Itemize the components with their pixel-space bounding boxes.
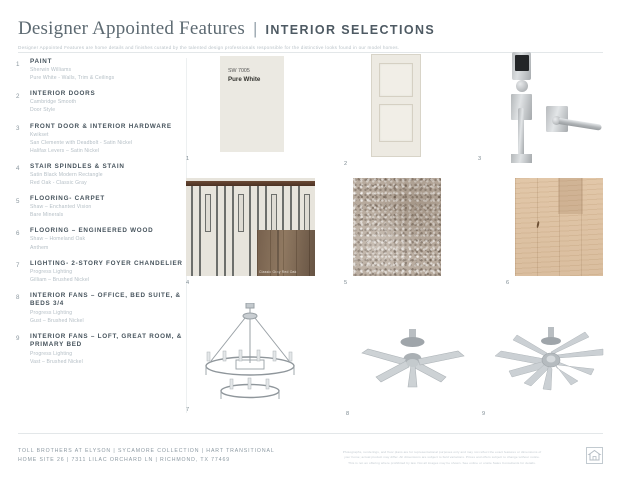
grid-cell-chandelier: 7 [191, 303, 309, 407]
legal-disclaimer: Photographs, renderings, and floor plans… [313, 450, 571, 466]
ceiling-fan-multi-blade-image [491, 325, 616, 410]
spec-number: 5 [16, 195, 30, 220]
footer-address-block: TOLL BROTHERS AT ELYSON | SYCAMORE COLLE… [18, 447, 275, 466]
equal-housing-opportunity-icon [586, 447, 603, 464]
grid-cell-carpet: 5 [353, 178, 441, 276]
spec-detail: Door Style [30, 107, 184, 115]
spec-number: 2 [16, 90, 30, 115]
spec-detail: Shaw – Homeland Oak [30, 236, 184, 244]
grid-cell-door-hardware: 3 [496, 50, 608, 163]
spec-detail: Progress Lighting [30, 310, 184, 318]
list-item: 8 INTERIOR FANS – OFFICE, BED SUITE, & B… [16, 292, 184, 325]
wood-stain-sample: Classic Gray Red Oak [257, 230, 315, 276]
cell-number: 9 [482, 411, 485, 417]
cell-number: 6 [506, 280, 509, 286]
door-panel-top [379, 63, 413, 97]
paint-code: SW 7005 [228, 67, 260, 75]
spec-number: 8 [16, 292, 30, 325]
footer-divider-rule [18, 433, 603, 434]
stair-spindles-image: Classic Gray Red Oak [186, 178, 315, 276]
cell-number: 4 [186, 280, 189, 286]
lock-cylinder-icon [516, 80, 528, 92]
spec-detail: Anthem [30, 245, 184, 253]
spec-detail: Gilliam – Brushed Nickel [30, 277, 184, 285]
page-subtitle-heading: INTERIOR SELECTIONS [265, 23, 435, 37]
chandelier-image [191, 303, 309, 407]
spec-title: STAIR SPINDLES & STAIN [30, 163, 184, 172]
footer-community-line: TOLL BROTHERS AT ELYSON | SYCAMORE COLLE… [18, 447, 275, 457]
selection-image-grid: SW 7005 Pure White 1 2 3 [186, 50, 605, 428]
title-row: Designer Appointed Features | INTERIOR S… [18, 18, 603, 40]
door-hardware-image [496, 50, 606, 162]
spec-detail: Sherwin Williams [30, 67, 184, 75]
door-panel-bottom [379, 104, 413, 142]
cell-number: 7 [186, 407, 189, 413]
spec-title: INTERIOR FANS – LOFT, GREAT ROOM, & PRIM… [30, 333, 184, 350]
spec-number: 3 [16, 123, 30, 156]
list-item: 4 STAIR SPINDLES & STAIN Satin Black Mod… [16, 163, 184, 188]
spec-detail: Bare Minerals [30, 212, 184, 220]
spec-number: 1 [16, 58, 30, 83]
specification-list: 1 PAINT Sherwin Williams Pure White - Wa… [16, 58, 184, 374]
spec-title: LIGHTING- 2-STORY FOYER CHANDELIER [30, 260, 184, 269]
fan-multi-blade-svg [491, 325, 616, 405]
list-item: 9 INTERIOR FANS – LOFT, GREAT ROOM, & PR… [16, 333, 184, 366]
spec-title: FRONT DOOR & INTERIOR HARDWARE [30, 123, 184, 132]
spec-number: 9 [16, 333, 30, 366]
spec-title: INTERIOR FANS – OFFICE, BED SUITE, & BED… [30, 292, 184, 309]
spec-title: FLOORING- CARPET [30, 195, 184, 204]
spec-detail: Satin Black Modern Rectangle [30, 172, 184, 180]
list-item: 6 FLOORING – ENGINEERED WOOD Shaw – Home… [16, 227, 184, 252]
disclaimer-line: This is not an offering where prohibited… [313, 461, 571, 466]
cell-number: 2 [344, 161, 347, 167]
carpet-swatch-image [353, 178, 441, 276]
spec-detail: Progress Lighting [30, 269, 184, 277]
ceiling-fan-five-blade-image [354, 325, 474, 410]
spec-number: 7 [16, 260, 30, 285]
page-title: Designer Appointed Features [18, 18, 245, 40]
title-divider: | [253, 19, 257, 39]
keypad-deadbolt-icon [512, 52, 531, 80]
spec-detail: Cambridge Smooth [30, 99, 184, 107]
grid-cell-stair-spindles: Classic Gray Red Oak 4 [186, 178, 315, 276]
cell-number: 1 [186, 156, 189, 162]
cell-number: 8 [346, 411, 349, 417]
engineered-wood-swatch-image [515, 178, 603, 276]
spec-detail: Pure White - Walls, Trim & Ceilings [30, 75, 184, 83]
fan-five-blade-svg [354, 325, 474, 405]
spec-detail: Progress Lighting [30, 351, 184, 359]
spec-title: FLOORING – ENGINEERED WOOD [30, 227, 184, 236]
grid-cell-interior-door: 2 [371, 54, 421, 157]
wood-stain-caption: Classic Gray Red Oak [259, 270, 297, 274]
handleset-grip [518, 108, 524, 160]
spec-number: 6 [16, 227, 30, 252]
spec-detail: San Clemente with Deadbolt - Satin Nicke… [30, 140, 184, 148]
list-item: 5 FLOORING- CARPET Shaw – Enchanted Visi… [16, 195, 184, 220]
handleset-base [511, 154, 532, 163]
list-item: 1 PAINT Sherwin Williams Pure White - Wa… [16, 58, 184, 83]
spec-detail: Gust – Brushed Nickel [30, 318, 184, 326]
grid-cell-fan-multi-blade: 9 [491, 325, 616, 405]
spec-number: 4 [16, 163, 30, 188]
spec-detail: Halifax Levers – Satin Nickel [30, 148, 184, 156]
spec-detail: Kwikset [30, 132, 184, 140]
paint-name: Pure White [228, 75, 260, 85]
chandelier-svg [191, 303, 309, 407]
cell-number: 3 [478, 156, 481, 162]
footer-site-line: HOME SITE 26 | 7311 LILAC ORCHARD LN | R… [18, 456, 275, 466]
paint-swatch: SW 7005 Pure White [220, 56, 284, 152]
list-item: 3 FRONT DOOR & INTERIOR HARDWARE Kwikset… [16, 123, 184, 156]
grid-cell-fan-five-blade: 8 [354, 325, 474, 405]
interior-door-image [371, 54, 421, 157]
spec-detail: Red Oak - Classic Gray [30, 180, 184, 188]
grid-cell-engineered-wood: 6 [515, 178, 603, 276]
list-item: 2 INTERIOR DOORS Cambridge Smooth Door S… [16, 90, 184, 115]
list-item: 7 LIGHTING- 2-STORY FOYER CHANDELIER Pro… [16, 260, 184, 285]
disclaimer-line: your home; actual product may differ. Al… [313, 455, 571, 460]
cell-number: 5 [344, 280, 347, 286]
spec-detail: Vast – Brushed Nickel [30, 359, 184, 367]
grid-cell-paint: SW 7005 Pure White 1 [220, 56, 284, 152]
spec-detail: Shaw – Enchanted Vision [30, 204, 184, 212]
spec-title: PAINT [30, 58, 184, 67]
spec-title: INTERIOR DOORS [30, 90, 184, 99]
